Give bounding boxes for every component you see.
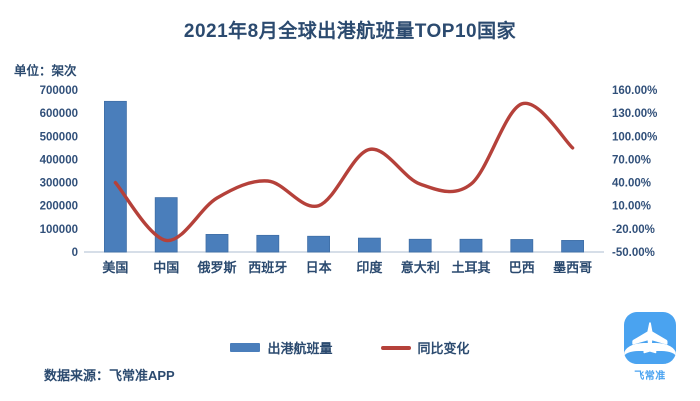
bar-土耳其 (460, 239, 482, 252)
bar-巴西 (511, 240, 533, 252)
legend-swatch-line-icon (381, 346, 411, 350)
svg-text:-20.00%: -20.00% (612, 224, 655, 236)
legend-label-line: 同比变化 (418, 338, 470, 357)
x-axis-label-西班牙: 西班牙 (248, 260, 287, 275)
svg-text:300000: 300000 (40, 178, 78, 190)
bar-意大利 (409, 239, 431, 252)
svg-text:600000: 600000 (40, 108, 78, 120)
bar-中国 (155, 198, 177, 252)
svg-text:160.00%: 160.00% (612, 85, 657, 97)
legend-item-line: 同比变化 (381, 338, 470, 357)
bar-西班牙 (257, 235, 279, 252)
x-axis-label-巴西: 巴西 (509, 260, 535, 275)
legend-swatch-bar-icon (230, 343, 260, 352)
svg-text:70.00%: 70.00% (612, 154, 651, 166)
x-axis-label-中国: 中国 (153, 260, 179, 275)
x-axis-label-美国: 美国 (102, 260, 128, 275)
svg-text:400000: 400000 (40, 154, 78, 166)
svg-text:0: 0 (72, 247, 78, 259)
svg-text:130.00%: 130.00% (612, 108, 657, 120)
bar-俄罗斯 (206, 234, 228, 252)
chart-container: 2021年8月全球出港航班量TOP10国家 单位：架次 700000600000… (0, 0, 700, 401)
x-axis-label-印度: 印度 (356, 260, 383, 275)
x-axis-label-俄罗斯: 俄罗斯 (196, 260, 236, 275)
yoy-change-line (115, 103, 572, 240)
legend-item-bars: 出港航班量 (230, 338, 332, 357)
data-source-text: 数据来源：飞常准APP (44, 365, 175, 384)
svg-text:100.00%: 100.00% (612, 131, 657, 143)
x-axis-label-日本: 日本 (306, 260, 332, 275)
svg-text:200000: 200000 (40, 201, 78, 213)
chart-plot-area: 7000006000005000004000003000002000001000… (0, 0, 700, 300)
x-axis-label-土耳其: 土耳其 (451, 260, 490, 275)
svg-text:-50.00%: -50.00% (612, 247, 655, 259)
chart-legend: 出港航班量 同比变化 (0, 338, 700, 357)
x-axis-label-意大利: 意大利 (401, 260, 440, 275)
logo-box (624, 312, 676, 364)
x-axis-label-墨西哥: 墨西哥 (553, 260, 592, 275)
airplane-icon (630, 321, 670, 357)
svg-text:500000: 500000 (40, 131, 78, 143)
svg-text:700000: 700000 (40, 85, 78, 97)
legend-label-bars: 出港航班量 (267, 338, 332, 357)
brand-logo: 飞常准 (622, 312, 678, 382)
svg-text:40.00%: 40.00% (612, 178, 651, 190)
bar-美国 (104, 101, 126, 252)
logo-brand-text: 飞常准 (634, 367, 666, 382)
bar-墨西哥 (562, 240, 584, 252)
bar-日本 (308, 236, 330, 252)
bar-印度 (358, 238, 380, 252)
svg-text:10.00%: 10.00% (612, 201, 651, 213)
svg-text:100000: 100000 (40, 224, 78, 236)
